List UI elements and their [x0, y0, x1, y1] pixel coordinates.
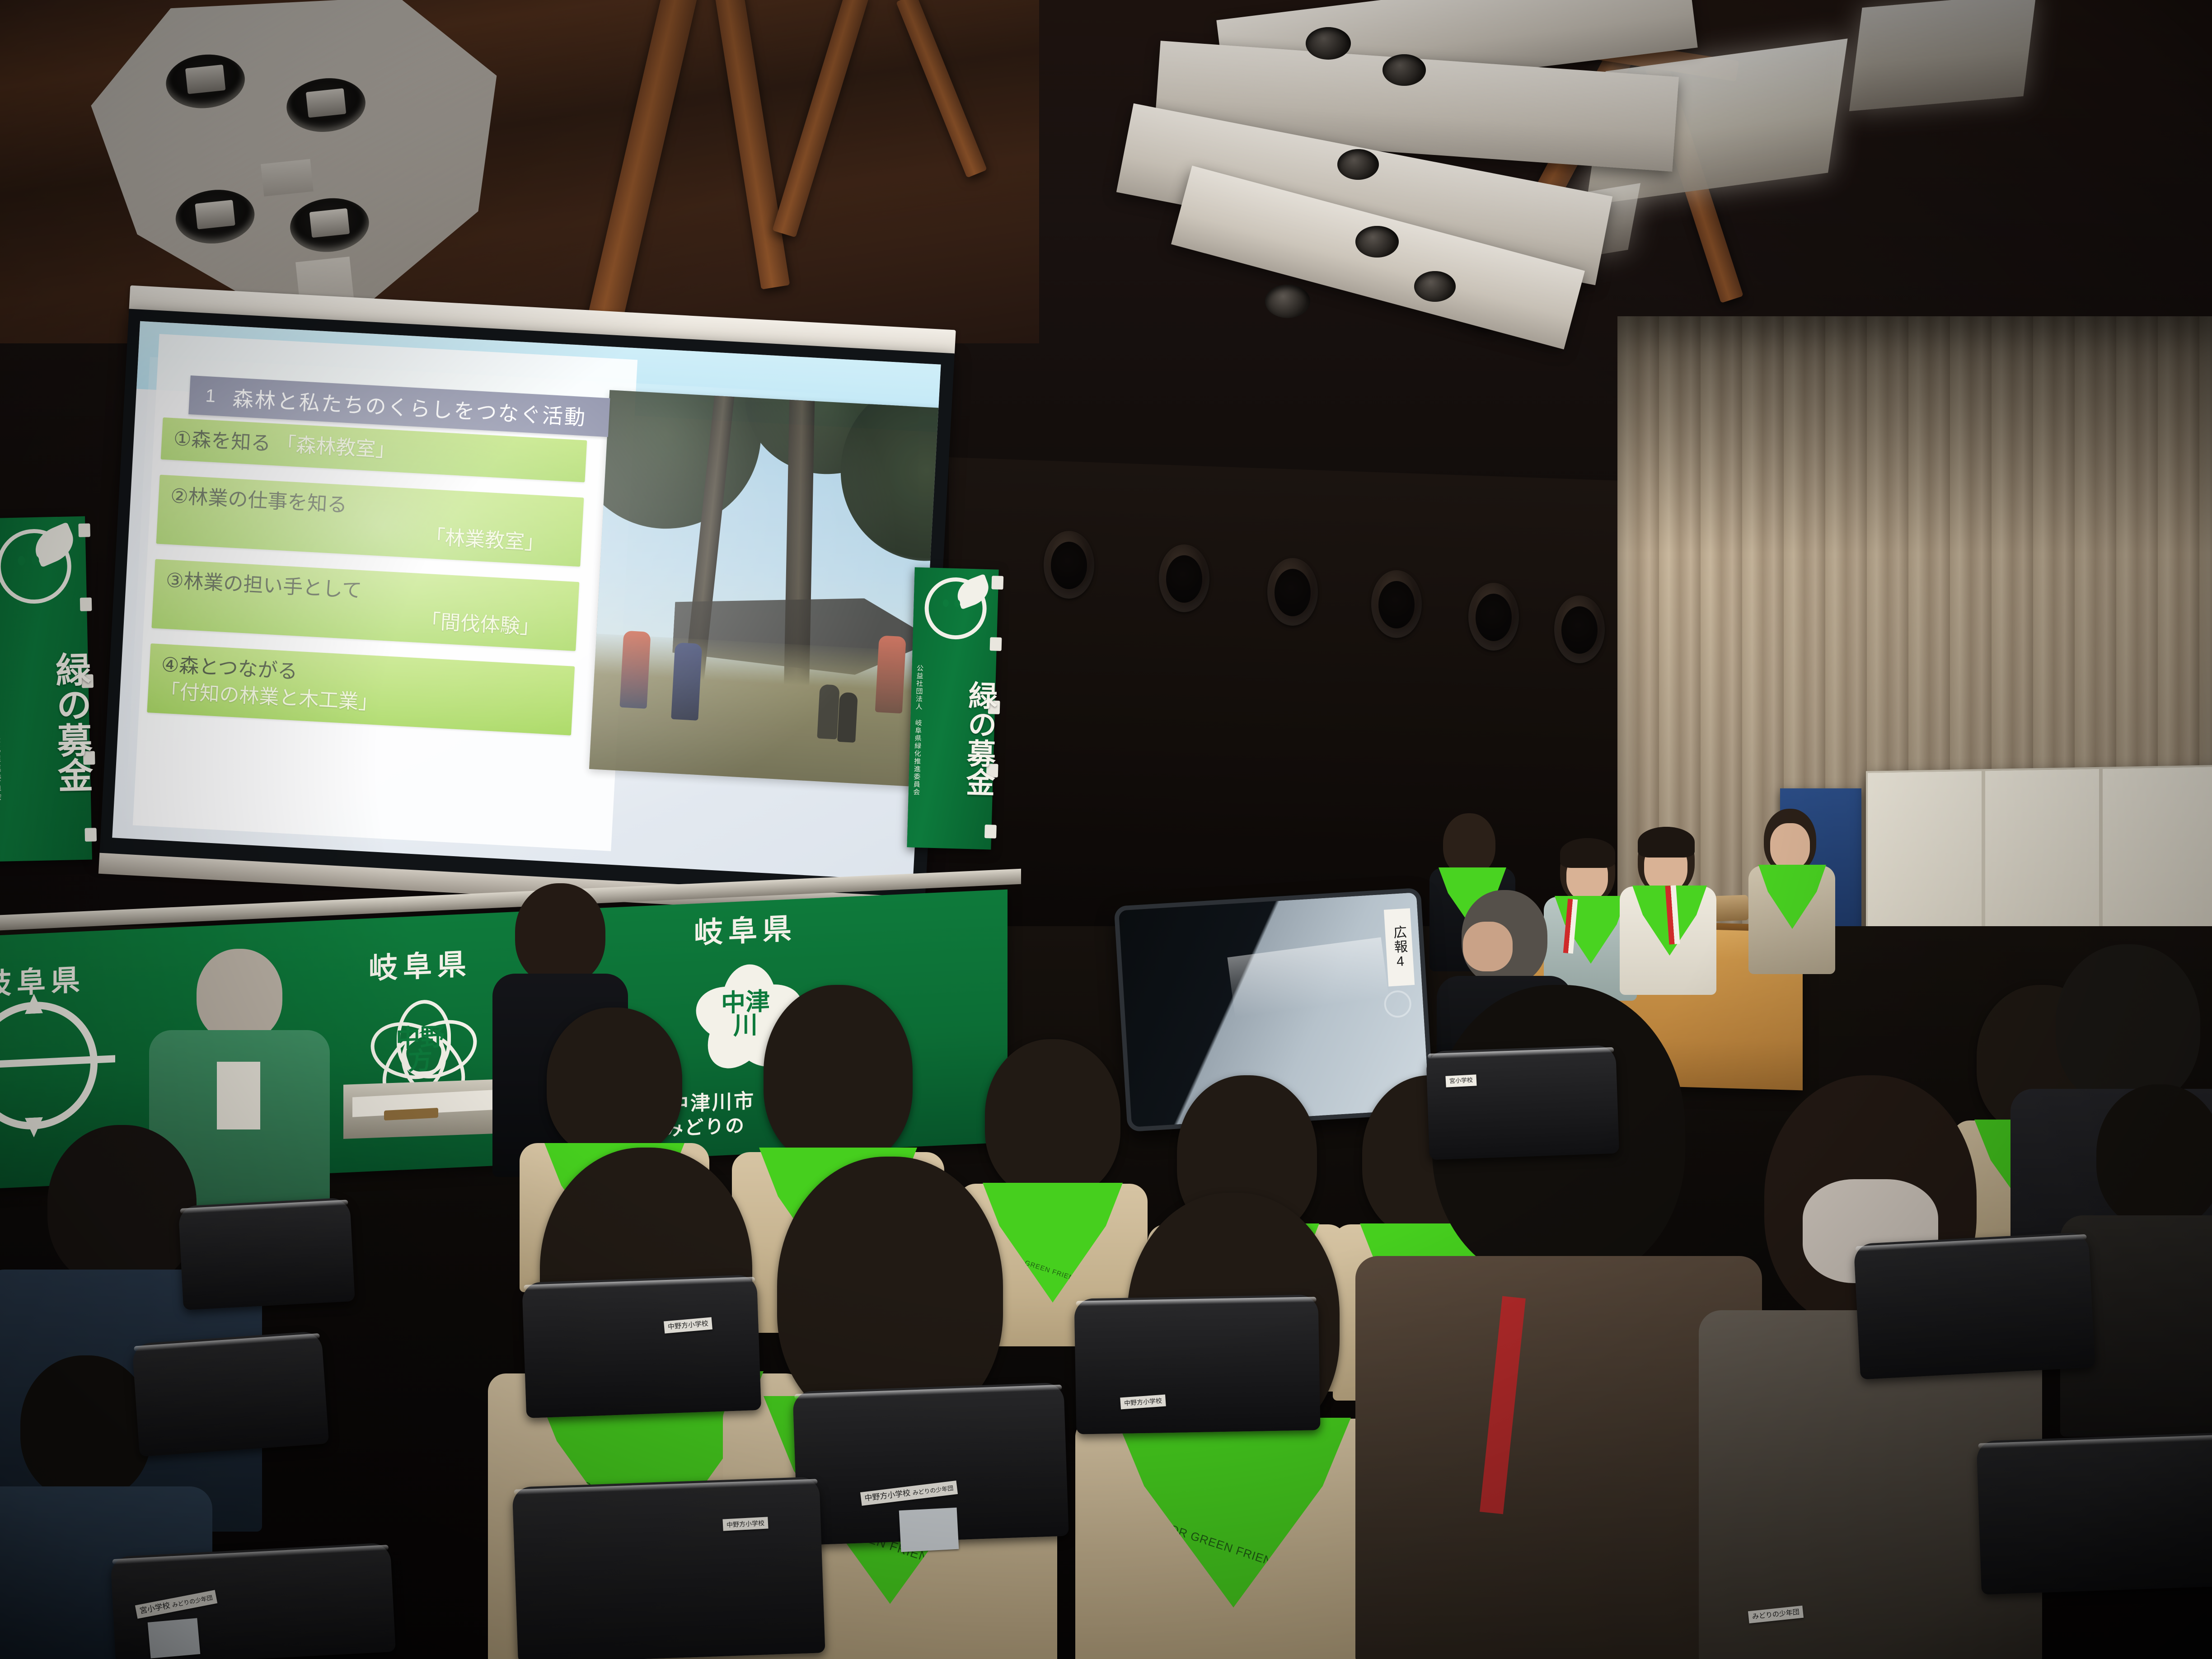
presenter-head	[515, 883, 605, 985]
presenter-hair	[1638, 827, 1695, 858]
audience-chair[interactable]	[132, 1331, 329, 1457]
nobori-main-text: 緑の募金	[0, 602, 92, 844]
wall-speaker-icon	[1554, 595, 1605, 663]
wall-speaker-icon	[1371, 570, 1422, 638]
presenter-head	[1443, 813, 1495, 876]
skylight	[1849, 0, 2036, 111]
circular-emblem-icon	[0, 999, 98, 1132]
slide-item: ②林業の仕事を知る 「林業教室」	[156, 475, 584, 567]
slide-item-list: ①森を知る 「森林教室」 ②林業の仕事を知る 「林業教室」 ③林業の担い手として…	[146, 417, 587, 751]
child-head	[764, 985, 913, 1166]
slide-header-number: 1	[189, 384, 233, 407]
chair-label-line1: 宮小学校	[1449, 1077, 1473, 1085]
ceiling-spotlight-icon	[1337, 149, 1379, 180]
chair-label: 中野方小学校	[722, 1517, 768, 1531]
chair-label-line1: 中野方小学校	[1124, 1397, 1162, 1407]
wall-speaker-icon	[1468, 583, 1519, 651]
ceiling-spotlight-icon	[1355, 226, 1399, 258]
hanging-light-fixture	[82, 0, 519, 332]
audience-chair[interactable]	[178, 1197, 355, 1310]
chair-label-line2: みどりの少年団	[1752, 1608, 1800, 1621]
presenter-face	[1770, 823, 1810, 869]
official-face	[1463, 922, 1513, 971]
green-fund-logo-icon	[0, 528, 72, 605]
slide-item-quote: 「間伐体験」	[164, 594, 566, 642]
slide-item: ③林業の担い手として 「間伐体験」	[151, 559, 579, 651]
slide-item-quote: 「付知の林業と木工業」	[159, 680, 379, 714]
nobori-banner-left: 緑の募金 公益社団法人 岐阜県緑化推進委員会	[0, 516, 92, 862]
chair-plate	[148, 1618, 201, 1658]
screenshot-root: 1 森林と私たちのくらしをつなぐ活動 ①森を知る 「森林教室」 ②林業の仕事を知…	[0, 0, 2212, 1659]
audience-chair[interactable]	[1074, 1294, 1320, 1434]
chair-plate	[899, 1508, 959, 1552]
slide-item-quote: 「森林教室」	[276, 433, 396, 462]
ceiling-spotlight-icon	[1306, 27, 1351, 60]
chair-label-line1: 中野方小学校	[726, 1519, 765, 1528]
projected-slide: 1 森林と私たちのくらしをつなぐ活動 ①森を知る 「森林教室」 ②林業の仕事を知…	[112, 321, 941, 881]
adult-head	[197, 949, 282, 1041]
adult-head	[2056, 944, 2200, 1107]
slide-photo	[589, 390, 941, 787]
audience-chair[interactable]	[1426, 1045, 1619, 1160]
id-badge	[217, 1062, 260, 1129]
chair-label-line1: 中野方小学校	[667, 1320, 708, 1331]
projection-screen: 1 森林と私たちのくらしをつなぐ活動 ①森を知る 「森林教室」 ②林業の仕事を知…	[97, 286, 956, 948]
adult-head	[20, 1355, 151, 1500]
nobori-banner-middle: 緑の募金 公益社団法人 岐阜県緑化推進委員会	[907, 567, 998, 850]
presenter-student	[1748, 809, 1837, 967]
crest-prefecture-label: 岐阜県	[651, 903, 840, 953]
chair-label-line2: みどりの少年団	[912, 1485, 954, 1496]
photo-person	[671, 642, 702, 721]
slide-item-quote: 「林業教室」	[168, 510, 570, 558]
photo-person	[837, 692, 858, 743]
tablet-label: 広報4	[1384, 908, 1415, 986]
fixture-plate	[261, 159, 314, 197]
ceiling-spotlight-icon	[1414, 271, 1456, 302]
adult-head	[2096, 1084, 2212, 1229]
presenter-hair	[1560, 838, 1615, 868]
green-fund-logo-icon	[924, 576, 988, 640]
audience-chair[interactable]	[1854, 1232, 2095, 1380]
slide-item-lead: ①森を知る	[173, 427, 272, 455]
slide-item-lead: ④森とつながる	[161, 653, 298, 683]
audience-chair[interactable]	[512, 1476, 825, 1659]
audience-chair[interactable]	[1976, 1432, 2212, 1594]
child-head	[547, 1008, 682, 1157]
ceiling-spotlight-icon	[1265, 285, 1310, 318]
audience-chair[interactable]	[522, 1275, 761, 1418]
adult-head	[47, 1125, 197, 1288]
slide-item: ④森とつながる 「付知の林業と木工業」	[147, 643, 575, 735]
wall-speaker-icon	[1267, 558, 1318, 626]
wall-speaker-icon	[1159, 544, 1209, 612]
chair-label: 宮小学校	[1445, 1074, 1476, 1087]
photo-person	[875, 635, 906, 713]
photo-person	[817, 684, 839, 739]
ceiling-spotlight-icon	[1382, 54, 1426, 86]
wall-speaker-icon	[1044, 531, 1094, 599]
crest-org-label: 中野方	[388, 1025, 453, 1074]
slide-content: 1 森林と私たちのくらしをつなぐ活動 ①森を知る 「森林教室」 ②林業の仕事を知…	[112, 321, 941, 881]
crest-prefecture-label: 岐阜県	[0, 956, 108, 1004]
photo-person	[619, 631, 651, 709]
